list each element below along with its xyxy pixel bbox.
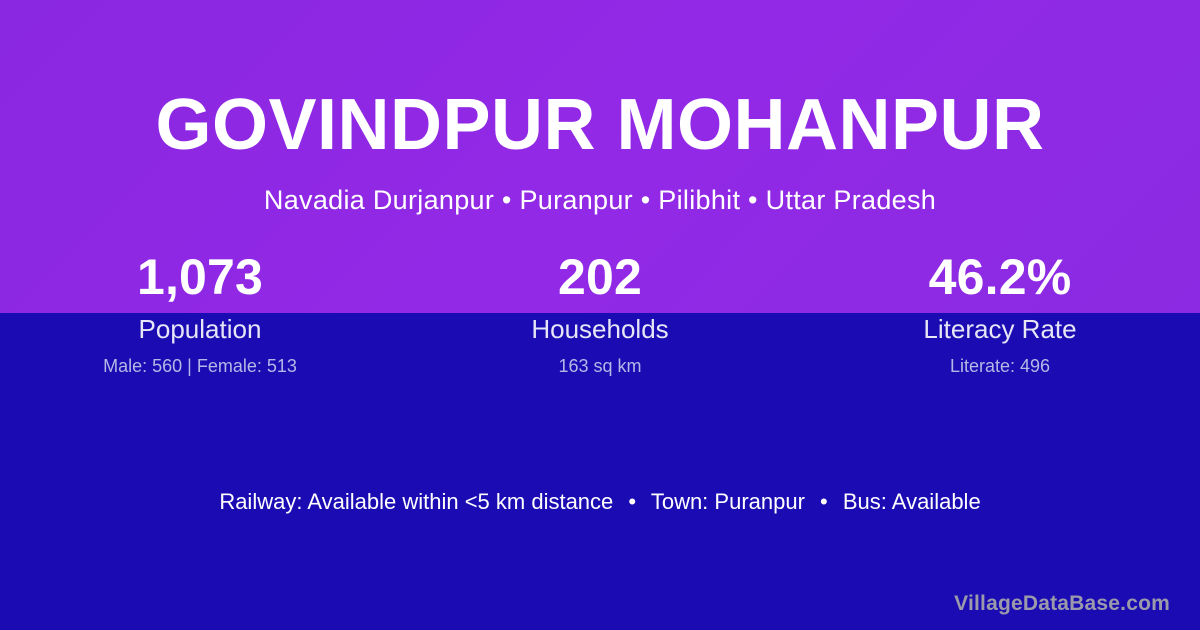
stat-households-area: 163 sq km [400,354,800,378]
amenity-railway: Railway: Available within <5 km distance [219,489,613,514]
stat-population: 1,073 Population Male: 560 | Female: 513 [0,246,400,378]
stat-population-value: 1,073 [0,246,400,308]
village-info-card: GOVINDPUR MOHANPUR Navadia Durjanpur • P… [0,0,1200,630]
amenity-bus: Bus: Available [843,489,981,514]
stat-literacy-rate: 46.2% Literacy Rate Literate: 496 [800,246,1200,378]
stat-literacy-rate-label: Literacy Rate [800,311,1200,347]
breadcrumb: Navadia Durjanpur • Puranpur • Pilibhit … [0,183,1200,217]
page-title: GOVINDPUR MOHANPUR [0,83,1200,167]
stat-households: 202 Households 163 sq km [400,246,800,378]
stat-households-value: 202 [400,246,800,308]
stat-households-label: Households [400,311,800,347]
stat-literacy-count: Literate: 496 [800,354,1200,378]
amenity-separator-2: • [811,489,837,514]
stat-population-label: Population [0,311,400,347]
site-brand: VillageDataBase.com [954,590,1170,618]
stats-row: 1,073 Population Male: 560 | Female: 513… [0,246,1200,378]
amenities-line: Railway: Available within <5 km distance… [0,488,1200,516]
stat-population-breakdown: Male: 560 | Female: 513 [0,354,400,378]
stat-literacy-rate-value: 46.2% [800,246,1200,308]
amenity-separator-1: • [619,489,645,514]
amenity-town: Town: Puranpur [651,489,805,514]
